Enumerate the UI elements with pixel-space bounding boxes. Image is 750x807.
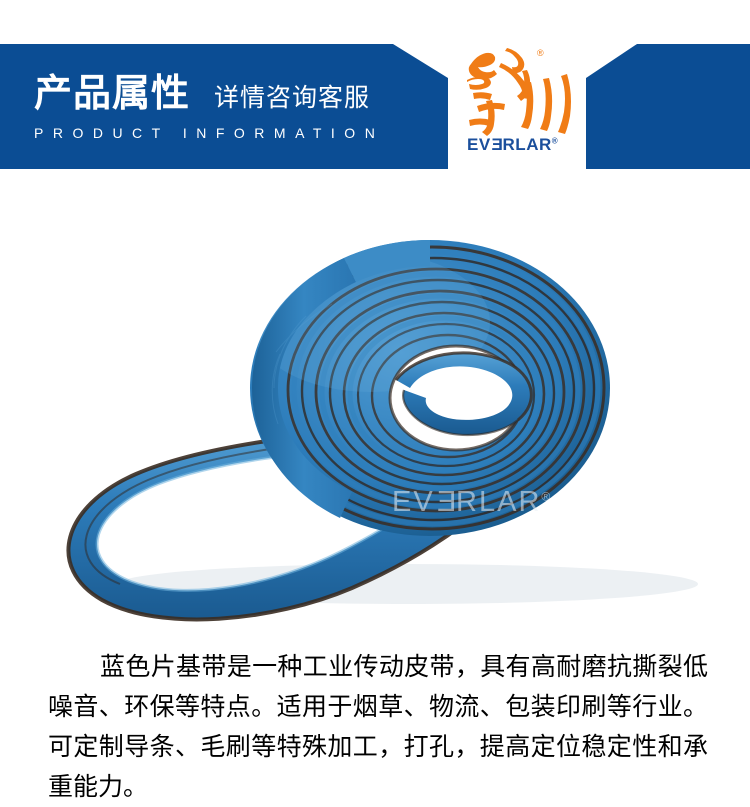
page-title-cn: 产品属性: [34, 75, 190, 113]
logo-registered-upper: ®: [537, 48, 544, 58]
logo-wordmark: EVERLAR®: [467, 136, 558, 153]
banner-title-row: 产品属性 详情咨询客服: [34, 75, 434, 113]
page-header-banner: 产品属性 详情咨询客服 PRODUCT INFORMATION: [0, 44, 750, 169]
belt-coil-body: [250, 240, 610, 536]
page-title-en: PRODUCT INFORMATION: [34, 126, 434, 140]
banner-panel-right: [586, 44, 750, 169]
product-description: 蓝色片基带是一种工业传动皮带，具有高耐磨抗撕裂低噪音、环保等特点。适用于烟草、物…: [48, 647, 708, 807]
yichuan-calligraphy-mark-icon: ®: [461, 40, 581, 140]
banner-subtitle-cn: 详情咨询客服: [214, 86, 370, 111]
logo-wordmark-reversed-e: E: [491, 136, 503, 153]
brand-logo: ® EVERLAR®: [461, 40, 581, 168]
banner-text-group: 产品属性 详情咨询客服 PRODUCT INFORMATION: [34, 75, 434, 140]
product-image-figure: EVERLAR®: [40, 212, 750, 632]
logo-registered-icon: ®: [552, 136, 558, 145]
product-photo-belt-coil: [40, 212, 750, 632]
logo-wordmark-prefix: EV: [467, 135, 491, 154]
logo-wordmark-suffix: RLAR: [503, 135, 552, 154]
